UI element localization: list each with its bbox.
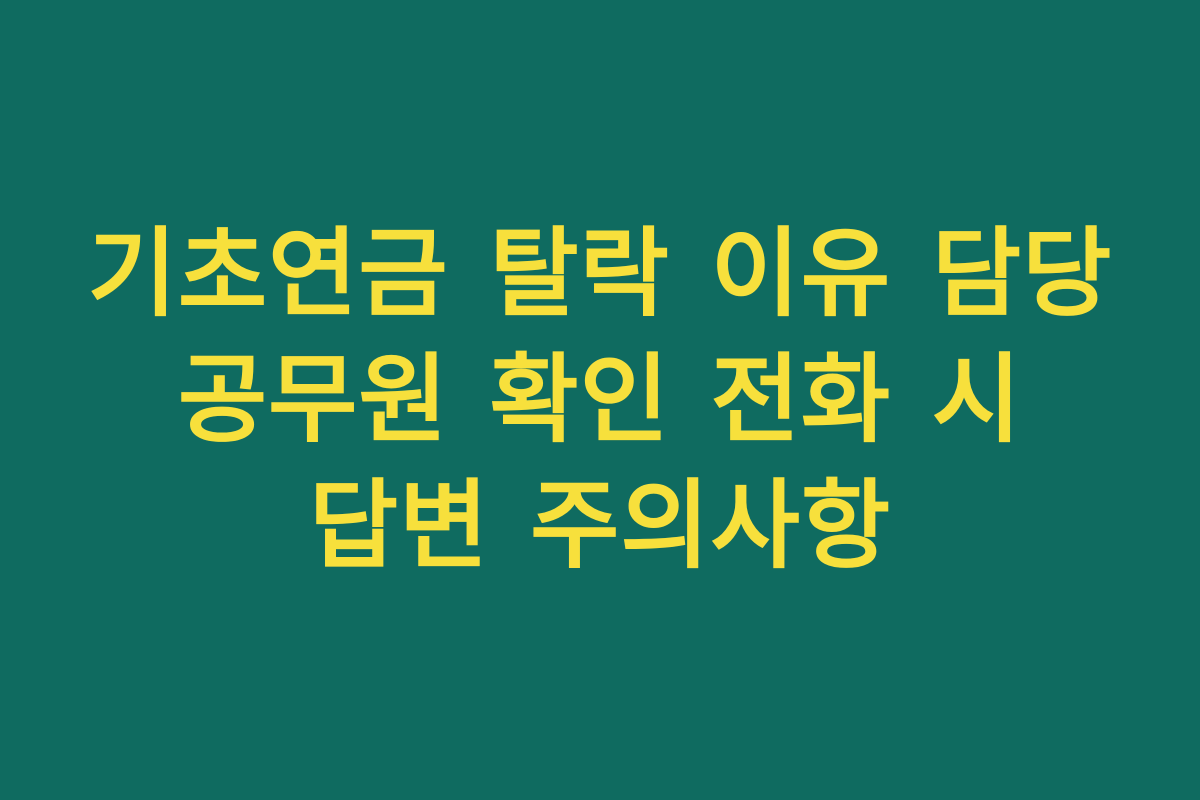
- headline-block: 기초연금 탈락 이유 담당 공무원 확인 전화 시 답변 주의사항: [70, 211, 1130, 589]
- banner-background: 기초연금 탈락 이유 담당 공무원 확인 전화 시 답변 주의사항: [0, 0, 1200, 800]
- page-title: 기초연금 탈락 이유 담당 공무원 확인 전화 시 답변 주의사항: [70, 211, 1130, 589]
